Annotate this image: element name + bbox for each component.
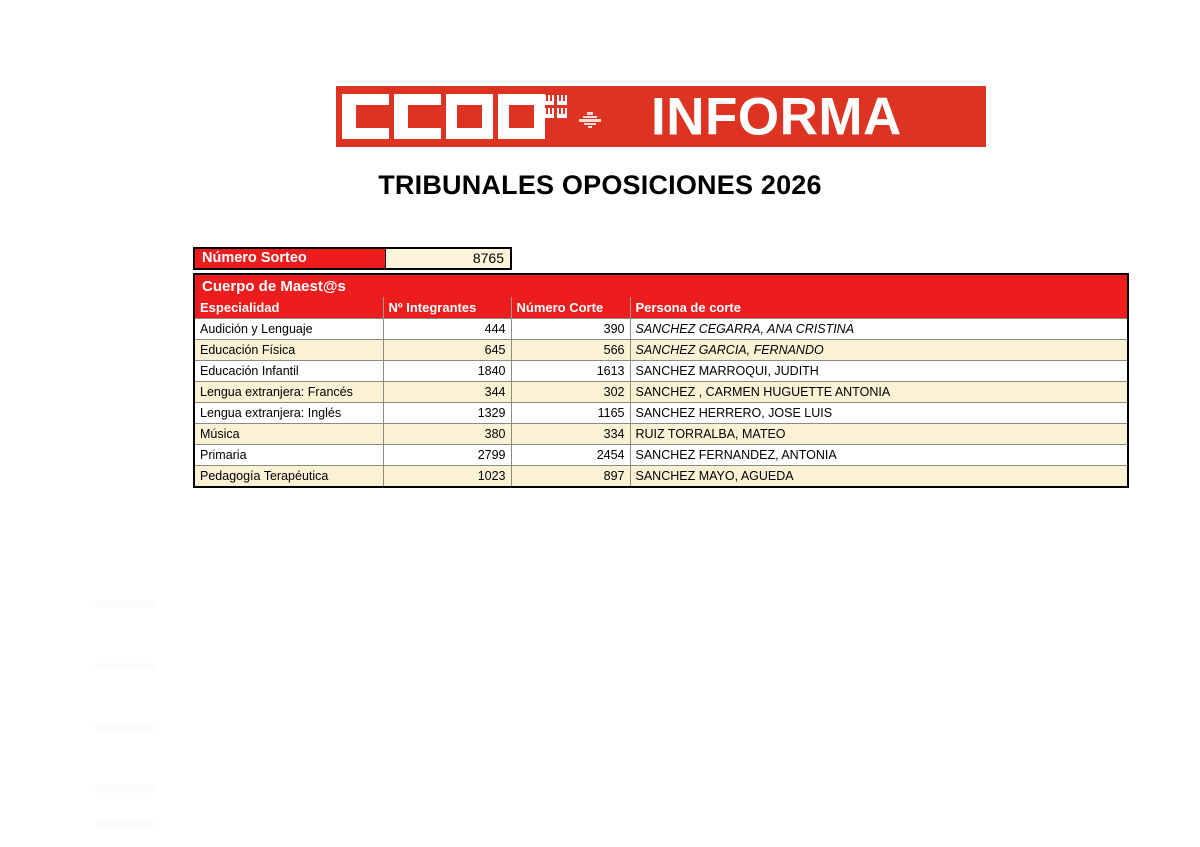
- cell-especialidad: Primaria: [195, 445, 383, 466]
- ccoo-logo: [342, 94, 545, 139]
- cell-persona-corte: RUIZ TORRALBA, MATEO: [630, 424, 1127, 445]
- ccoo-letter-o2-icon: [498, 94, 545, 139]
- ccoo-informa-banner: INFORMA: [336, 86, 986, 147]
- numero-sorteo-box: Número Sorteo 8765: [193, 247, 512, 270]
- cell-integrantes: 2799: [383, 445, 511, 466]
- table-row: Educación Física 645 566 SANCHEZ GARCIA,…: [195, 340, 1127, 361]
- crown-icon: [557, 108, 567, 118]
- banner-ornament-icon: [579, 112, 601, 128]
- cell-numero-corte: 334: [511, 424, 630, 445]
- scan-artifact: [95, 785, 155, 793]
- numero-sorteo-label: Número Sorteo: [195, 249, 385, 268]
- cell-numero-corte: 566: [511, 340, 630, 361]
- ccoo-letter-c2-icon: [394, 94, 441, 139]
- ccoo-letter-o1-icon: [446, 94, 493, 139]
- crown-icon: [544, 108, 554, 118]
- cell-especialidad: Educación Infantil: [195, 361, 383, 382]
- table-row: Pedagogía Terapéutica 1023 897 SANCHEZ M…: [195, 466, 1127, 487]
- cell-integrantes: 1023: [383, 466, 511, 487]
- table-body: Cuerpo de Maest@s Especialidad Nº Integr…: [195, 275, 1127, 486]
- column-header-integrantes: Nº Integrantes: [383, 297, 511, 319]
- cell-especialidad: Educación Física: [195, 340, 383, 361]
- cell-persona-corte: SANCHEZ MAYO, AGUEDA: [630, 466, 1127, 487]
- cell-numero-corte: 897: [511, 466, 630, 487]
- banner-inner: INFORMA: [336, 86, 986, 147]
- cuerpo-title: Cuerpo de Maest@s: [195, 275, 1127, 297]
- table-row: Primaria 2799 2454 SANCHEZ FERNANDEZ, AN…: [195, 445, 1127, 466]
- four-crowns-murcia-icon: [544, 95, 567, 118]
- column-header-persona-corte: Persona de corte: [630, 297, 1127, 319]
- cell-especialidad: Música: [195, 424, 383, 445]
- cell-especialidad: Lengua extranjera: Inglés: [195, 403, 383, 424]
- cell-especialidad: Audición y Lenguaje: [195, 319, 383, 340]
- cell-numero-corte: 1165: [511, 403, 630, 424]
- cell-especialidad: Pedagogía Terapéutica: [195, 466, 383, 487]
- page-title: TRIBUNALES OPOSICIONES 2026: [0, 170, 1200, 201]
- table-row: Lengua extranjera: Inglés 1329 1165 SANC…: [195, 403, 1127, 424]
- cell-integrantes: 444: [383, 319, 511, 340]
- table-row: Lengua extranjera: Francés 344 302 SANCH…: [195, 382, 1127, 403]
- cell-numero-corte: 302: [511, 382, 630, 403]
- cuerpo-title-row: Cuerpo de Maest@s: [195, 275, 1127, 297]
- numero-sorteo-value: 8765: [385, 249, 510, 268]
- cell-persona-corte: SANCHEZ CEGARRA, ANA CRISTINA: [630, 319, 1127, 340]
- cell-numero-corte: 390: [511, 319, 630, 340]
- crown-icon: [557, 95, 567, 105]
- scan-artifact: [95, 663, 155, 670]
- tribunales-table-container: Cuerpo de Maest@s Especialidad Nº Integr…: [193, 273, 1129, 488]
- table-row: Educación Infantil 1840 1613 SANCHEZ MAR…: [195, 361, 1127, 382]
- crown-icon: [544, 95, 554, 105]
- cell-especialidad: Lengua extranjera: Francés: [195, 382, 383, 403]
- cell-numero-corte: 2454: [511, 445, 630, 466]
- cell-integrantes: 645: [383, 340, 511, 361]
- informa-headline: INFORMA: [651, 90, 902, 143]
- tribunales-table: Cuerpo de Maest@s Especialidad Nº Integr…: [195, 275, 1127, 486]
- cell-integrantes: 380: [383, 424, 511, 445]
- column-header-especialidad: Especialidad: [195, 297, 383, 319]
- cell-persona-corte: SANCHEZ GARCIA, FERNANDO: [630, 340, 1127, 361]
- column-header-numero-corte: Número Corte: [511, 297, 630, 319]
- column-header-row: Especialidad Nº Integrantes Número Corte…: [195, 297, 1127, 319]
- table-row: Audición y Lenguaje 444 390 SANCHEZ CEGA…: [195, 319, 1127, 340]
- cell-numero-corte: 1613: [511, 361, 630, 382]
- cell-integrantes: 344: [383, 382, 511, 403]
- cell-integrantes: 1840: [383, 361, 511, 382]
- cell-persona-corte: SANCHEZ HERRERO, JOSE LUIS: [630, 403, 1127, 424]
- document-page: INFORMA TRIBUNALES OPOSICIONES 2026 Núme…: [0, 0, 1200, 847]
- cell-persona-corte: SANCHEZ FERNANDEZ, ANTONIA: [630, 445, 1127, 466]
- scan-artifact: [95, 723, 155, 731]
- cell-persona-corte: SANCHEZ , CARMEN HUGUETTE ANTONIA: [630, 382, 1127, 403]
- ccoo-letter-c1-icon: [342, 94, 389, 139]
- cell-persona-corte: SANCHEZ MARROQUI, JUDITH: [630, 361, 1127, 382]
- cell-integrantes: 1329: [383, 403, 511, 424]
- scan-artifact: [95, 600, 155, 608]
- table-row: Música 380 334 RUIZ TORRALBA, MATEO: [195, 424, 1127, 445]
- scan-artifact: [95, 820, 155, 827]
